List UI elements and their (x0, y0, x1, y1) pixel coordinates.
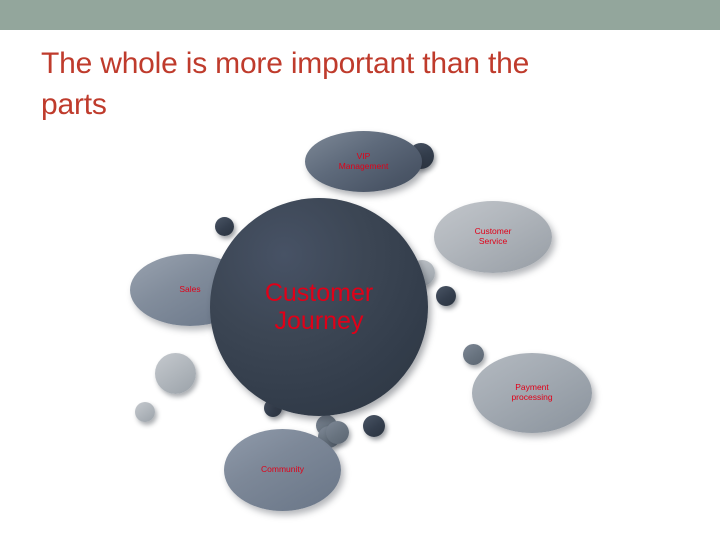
bubble-community-label: Community (261, 465, 304, 475)
top-banner (0, 0, 720, 30)
decorative-bubble (135, 402, 155, 422)
slide-canvas: The whole is more important than the par… (0, 0, 720, 540)
decorative-bubble (326, 421, 349, 444)
bubble-sales-label: Sales (179, 285, 200, 295)
bubble-community[interactable]: Community (224, 429, 341, 511)
decorative-bubble (155, 353, 196, 394)
decorative-bubble (436, 286, 456, 306)
bubble-customer-service-label: Customer Service (475, 227, 512, 246)
bubble-customer-service[interactable]: Customer Service (434, 201, 552, 273)
bubble-vip-management[interactable]: VIP Management (305, 131, 422, 192)
bubble-payment-processing[interactable]: Payment processing (472, 353, 592, 433)
bubble-diagram: Sales VIP Management Customer Journey Cu… (0, 110, 720, 540)
bubble-customer-journey-label: Customer Journey (265, 279, 373, 335)
bubble-payment-processing-label: Payment processing (511, 383, 552, 402)
decorative-bubble (463, 344, 484, 365)
decorative-bubble (215, 217, 234, 236)
bubble-customer-journey[interactable]: Customer Journey (210, 198, 428, 416)
bubble-vip-management-label: VIP Management (339, 152, 389, 171)
decorative-bubble (363, 415, 385, 437)
